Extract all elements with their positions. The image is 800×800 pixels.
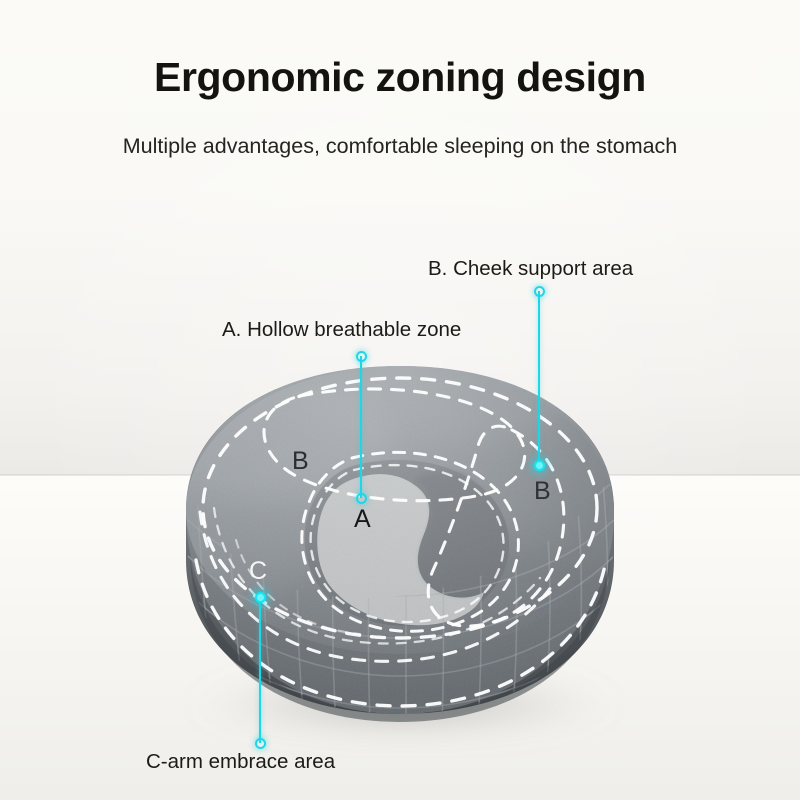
leader-line-b (538, 291, 540, 465)
zone-letter-a: A (354, 505, 371, 534)
callout-label-c: C-arm embrace area (146, 750, 335, 774)
pillow-illustration (0, 0, 800, 800)
leader-line-a (360, 356, 362, 498)
marker-b-bottom-icon (534, 460, 545, 471)
zone-letter-c: C (249, 557, 267, 586)
page-title: Ergonomic zoning design (0, 54, 800, 101)
leader-line-c (259, 598, 261, 743)
callout-label-b: B. Cheek support area (428, 257, 633, 281)
page-subtitle: Multiple advantages, comfortable sleepin… (0, 134, 800, 159)
callout-label-a: A. Hollow breathable zone (222, 318, 461, 342)
marker-a-bottom-icon (356, 493, 367, 504)
marker-a-top-icon (356, 351, 367, 362)
pillow-svg (0, 0, 800, 800)
marker-c-bottom-icon (255, 738, 266, 749)
zone-letter-b-right: B (534, 477, 551, 506)
zone-letter-b-left: B (292, 447, 309, 476)
product-infographic-poster: Ergonomic zoning design Multiple advanta… (0, 0, 800, 800)
marker-b-top-icon (534, 286, 545, 297)
marker-c-top-icon (255, 592, 266, 603)
